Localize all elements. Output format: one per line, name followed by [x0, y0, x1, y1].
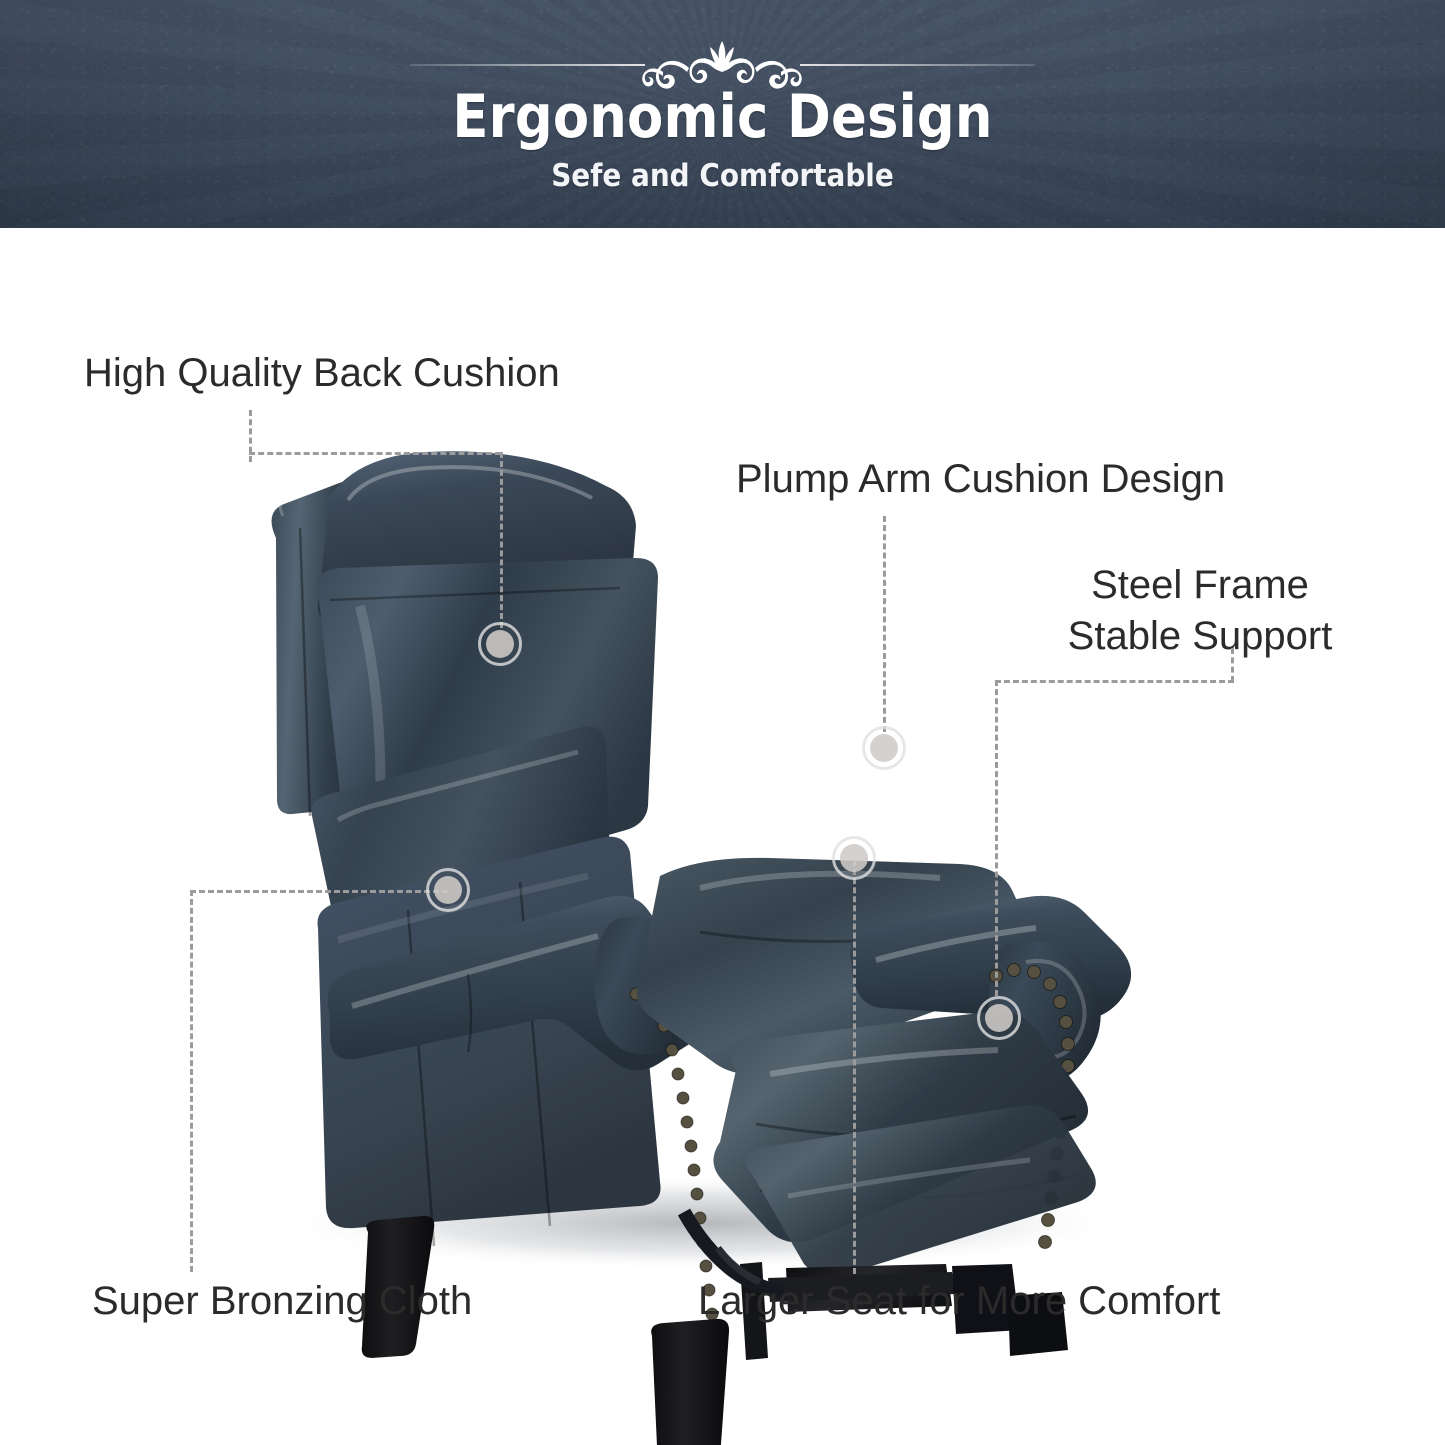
leader-back-cushion-h — [249, 452, 501, 455]
infographic-page: Ergonomic Design Sefe and Comfortable — [0, 0, 1445, 1445]
leader-steel-frame-v1 — [1231, 648, 1234, 682]
content-canvas: High Quality Back Cushion Plump Arm Cush… — [0, 228, 1445, 1445]
callout-marker-back-cushion[interactable] — [478, 622, 522, 666]
leader-bronzing-h — [190, 890, 448, 893]
leader-back-cushion-v2 — [500, 452, 503, 628]
callout-marker-arm-cushion[interactable] — [862, 726, 906, 770]
header-banner: Ergonomic Design Sefe and Comfortable — [0, 0, 1445, 228]
leader-bronzing-v — [190, 890, 193, 1272]
callout-label-larger-seat: Larger Seat for More Comfort — [698, 1276, 1220, 1327]
page-title: Ergonomic Design — [87, 82, 1359, 152]
callout-label-back-cushion: High Quality Back Cushion — [84, 348, 560, 399]
leg-front-left — [651, 1319, 729, 1445]
header-divider — [0, 38, 1445, 84]
leader-steel-frame-h — [995, 680, 1234, 683]
callout-marker-footrest[interactable] — [977, 996, 1021, 1040]
divider-rule-right — [800, 64, 1035, 66]
callout-label-steel-frame: Steel Frame Stable Support — [1020, 560, 1380, 662]
page-subtitle: Sefe and Comfortable — [72, 158, 1373, 194]
callout-label-arm-cushion: Plump Arm Cushion Design — [736, 454, 1225, 505]
leader-steel-frame-v2 — [995, 680, 998, 996]
product-image-recliner — [0, 228, 1445, 1445]
leader-arm-cushion-v — [883, 516, 886, 732]
steel-frame-line1: Steel Frame — [1091, 563, 1309, 607]
callout-marker-larger-seat[interactable] — [832, 836, 876, 880]
callout-label-bronzing-cloth: Super Bronzing Cloth — [92, 1276, 472, 1327]
callout-marker-bronzing-cloth[interactable] — [426, 868, 470, 912]
divider-rule-left — [410, 64, 645, 66]
leader-larger-seat-v — [853, 860, 856, 1274]
steel-frame-line2: Stable Support — [1068, 614, 1333, 658]
